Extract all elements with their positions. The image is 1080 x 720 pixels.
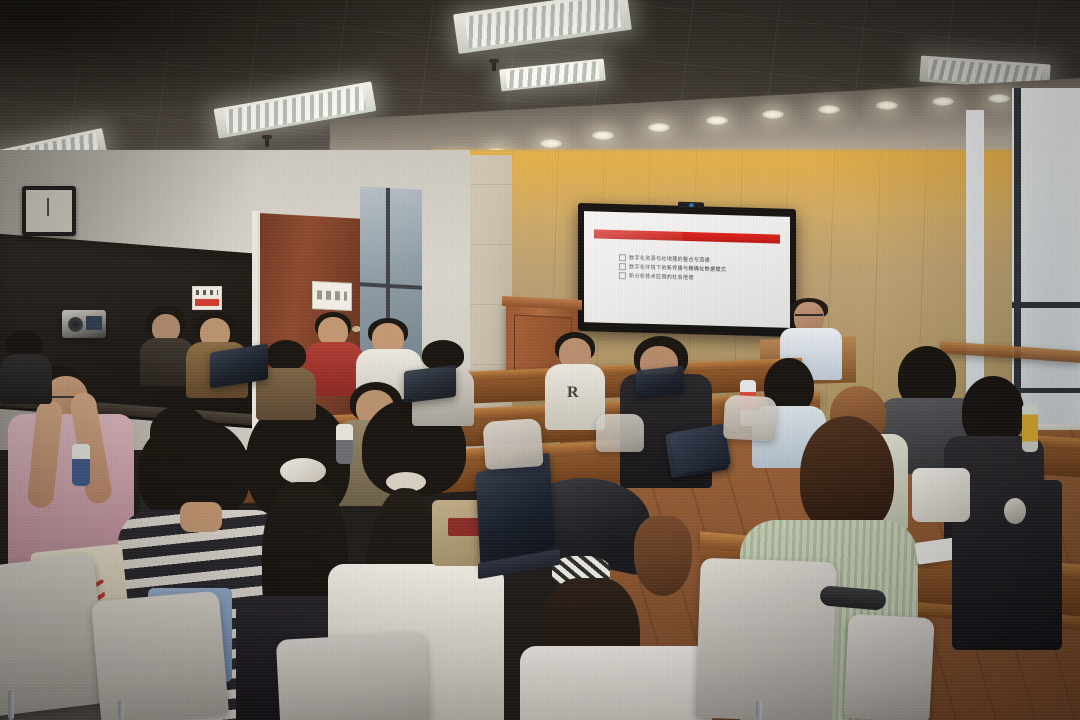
presenter-glasses-icon (795, 314, 823, 321)
downlight-5 (648, 123, 670, 132)
chair-8[interactable] (596, 414, 644, 452)
window-mullion-h (1012, 302, 1080, 308)
person-white-R-top: R (545, 332, 605, 428)
downlight-8 (818, 105, 840, 114)
camera-lens-icon (68, 317, 83, 332)
torso (520, 646, 712, 720)
laptop-3[interactable] (404, 365, 456, 403)
torso (0, 354, 52, 404)
beret-button (576, 486, 588, 494)
chair-4-leg (756, 700, 762, 720)
downlight-3 (540, 139, 562, 148)
display-screen: 数字化资源与社地理的整合与流通 数字化环境下的新传播与精确化数据模式 新分析技术… (584, 211, 790, 328)
wall-clock-icon (22, 186, 76, 236)
hair-brown (634, 516, 692, 596)
travel-mug-blue (72, 444, 90, 486)
chair-6[interactable] (482, 418, 543, 470)
chair-1-leg (8, 690, 14, 720)
hair (266, 340, 306, 370)
person-back-row-far-left (0, 330, 52, 400)
room-info-sign (312, 281, 352, 311)
shirt-letter-R: R (567, 384, 580, 402)
downlight-10 (932, 97, 954, 106)
downlight-4 (592, 131, 614, 140)
bag-charm-icon (1004, 498, 1026, 524)
chair-4[interactable] (695, 558, 837, 720)
travel-mug-grey (336, 424, 353, 464)
chair-2[interactable] (91, 591, 229, 720)
hair (800, 416, 894, 534)
hair-scrunchie (280, 458, 326, 484)
chair-3[interactable] (276, 632, 430, 720)
camera-screen (86, 316, 102, 330)
webcam-bar-icon (678, 202, 704, 209)
downlight-11 (988, 94, 1010, 103)
chair-7[interactable] (723, 395, 777, 442)
downlight-7 (762, 110, 784, 119)
window-left-mullion-h (360, 282, 422, 289)
white-plastic-bag (912, 468, 970, 522)
neck (180, 502, 222, 532)
laptop-4[interactable] (636, 365, 684, 398)
screen-glare (584, 211, 698, 328)
presentation-display[interactable]: 数字化资源与社地理的整合与流通 数字化环境下的新传播与精确化数据模式 新分析技术… (578, 203, 796, 337)
chair-5[interactable] (843, 614, 934, 720)
downlight-9 (876, 101, 898, 110)
safety-notice-sign (192, 286, 222, 310)
lecture-hall-photo: 数字化资源与社地理的整合与流通 数字化环境下的新传播与精确化数据模式 新分析技术… (0, 0, 1080, 720)
tea-bottle-yellow (1022, 404, 1038, 452)
camera-device[interactable] (62, 310, 106, 338)
downlight-6 (706, 116, 728, 125)
chair-2-leg (118, 700, 124, 720)
